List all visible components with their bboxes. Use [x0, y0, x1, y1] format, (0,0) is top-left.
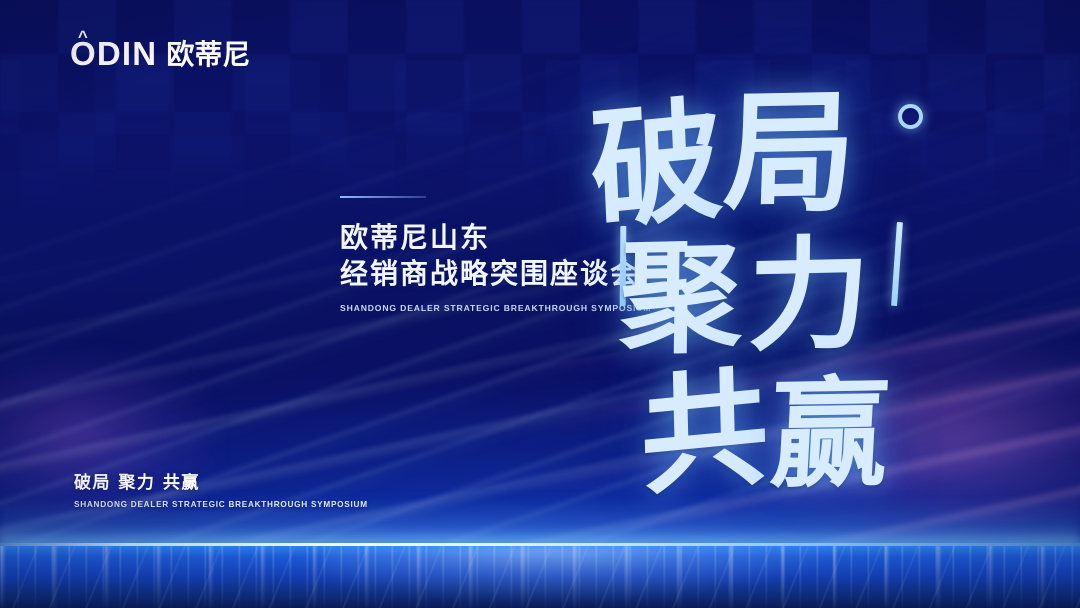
hero-char-ying: 赢	[767, 337, 898, 511]
bottom-tagline: 破局 聚力 共赢 SHANDONG DEALER STRATEGIC BREAK…	[74, 468, 368, 509]
title-divider-rule	[340, 196, 426, 198]
ground-plane	[0, 546, 1080, 608]
tagline-chinese: 破局 聚力 共赢	[74, 468, 368, 493]
circle-outline-icon	[898, 104, 923, 129]
tagline-english: SHANDONG DEALER STRATEGIC BREAKTHROUGH S…	[74, 500, 368, 509]
hero-char-gong: 共	[638, 322, 774, 519]
ground-perspective-lines	[0, 546, 1080, 608]
brand-logo-latin: ^ O DIN	[70, 37, 157, 70]
brand-logo-chinese: 欧蒂尼	[166, 33, 250, 73]
vertical-bar-icon-right	[891, 222, 903, 306]
brand-logo[interactable]: ^ O DIN 欧蒂尼	[70, 33, 250, 73]
macron-accent-icon: ^	[78, 28, 89, 45]
event-backdrop-poster: ^ O DIN 欧蒂尼 欧蒂尼山东 经销商战略突围座谈会 SHANDONG DE…	[0, 0, 1080, 608]
hero-row-3: 共 赢	[639, 313, 895, 514]
logo-latin-rest: DIN	[97, 37, 157, 70]
hero-calligraphy: 破 局 聚 力 共 赢	[580, 46, 1000, 466]
logo-letter-o: ^ O	[70, 37, 97, 70]
